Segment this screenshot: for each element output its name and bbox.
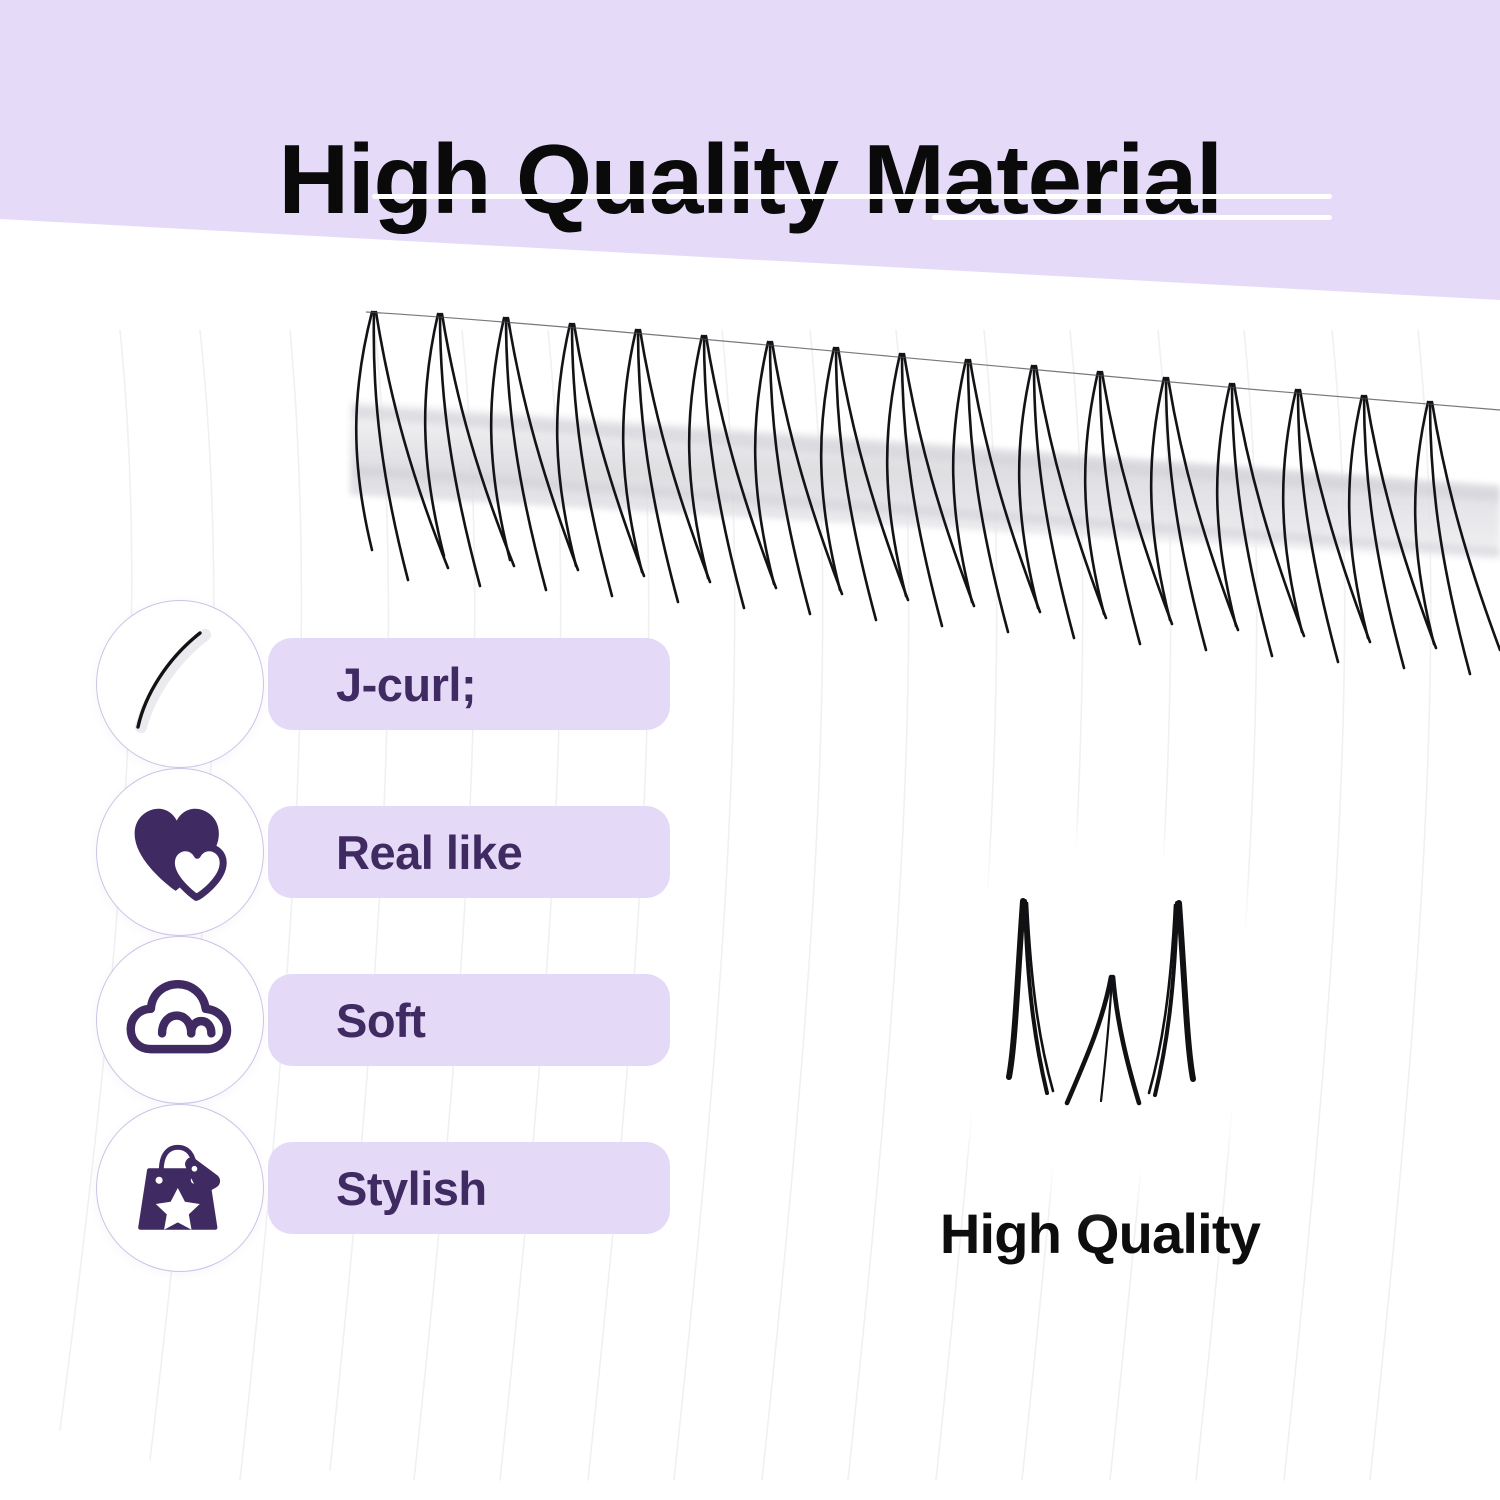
- double-heart-icon: [126, 798, 234, 906]
- feature-icon-badge: [96, 600, 264, 768]
- feature-pill: J-curl;: [268, 638, 670, 730]
- zoom-bubble-caption: High Quality: [925, 1201, 1275, 1266]
- j-curl-lash-icon: [105, 609, 255, 759]
- cloud-icon: [124, 964, 236, 1076]
- title-underline-long: [372, 194, 1332, 199]
- feature-item-j-curl: J-curl;: [96, 600, 596, 768]
- feature-item-real-like: Real like: [96, 768, 596, 936]
- title-underline-short: [932, 215, 1332, 220]
- feature-item-soft: Soft: [96, 936, 596, 1104]
- high-quality-callout: High Quality: [925, 845, 1275, 1266]
- feature-label: Real like: [336, 825, 522, 880]
- feature-item-stylish: Stylish: [96, 1104, 596, 1272]
- feature-pill: Soft: [268, 974, 670, 1066]
- feature-label: J-curl;: [336, 657, 476, 712]
- feature-icon-badge: [96, 1104, 264, 1272]
- feature-pill: Real like: [268, 806, 670, 898]
- feature-label: Soft: [336, 993, 425, 1048]
- product-infographic: High Quality Material J-curl; Real like: [0, 0, 1500, 1500]
- shopping-bag-star-icon: [125, 1133, 235, 1243]
- feature-icon-badge: [96, 936, 264, 1104]
- lash-cluster-magnified-icon: [935, 845, 1265, 1175]
- zoom-bubble: [935, 845, 1265, 1175]
- feature-pill: Stylish: [268, 1142, 670, 1234]
- feature-list: J-curl; Real like: [96, 600, 596, 1272]
- feature-icon-badge: [96, 768, 264, 936]
- feature-label: Stylish: [336, 1161, 487, 1216]
